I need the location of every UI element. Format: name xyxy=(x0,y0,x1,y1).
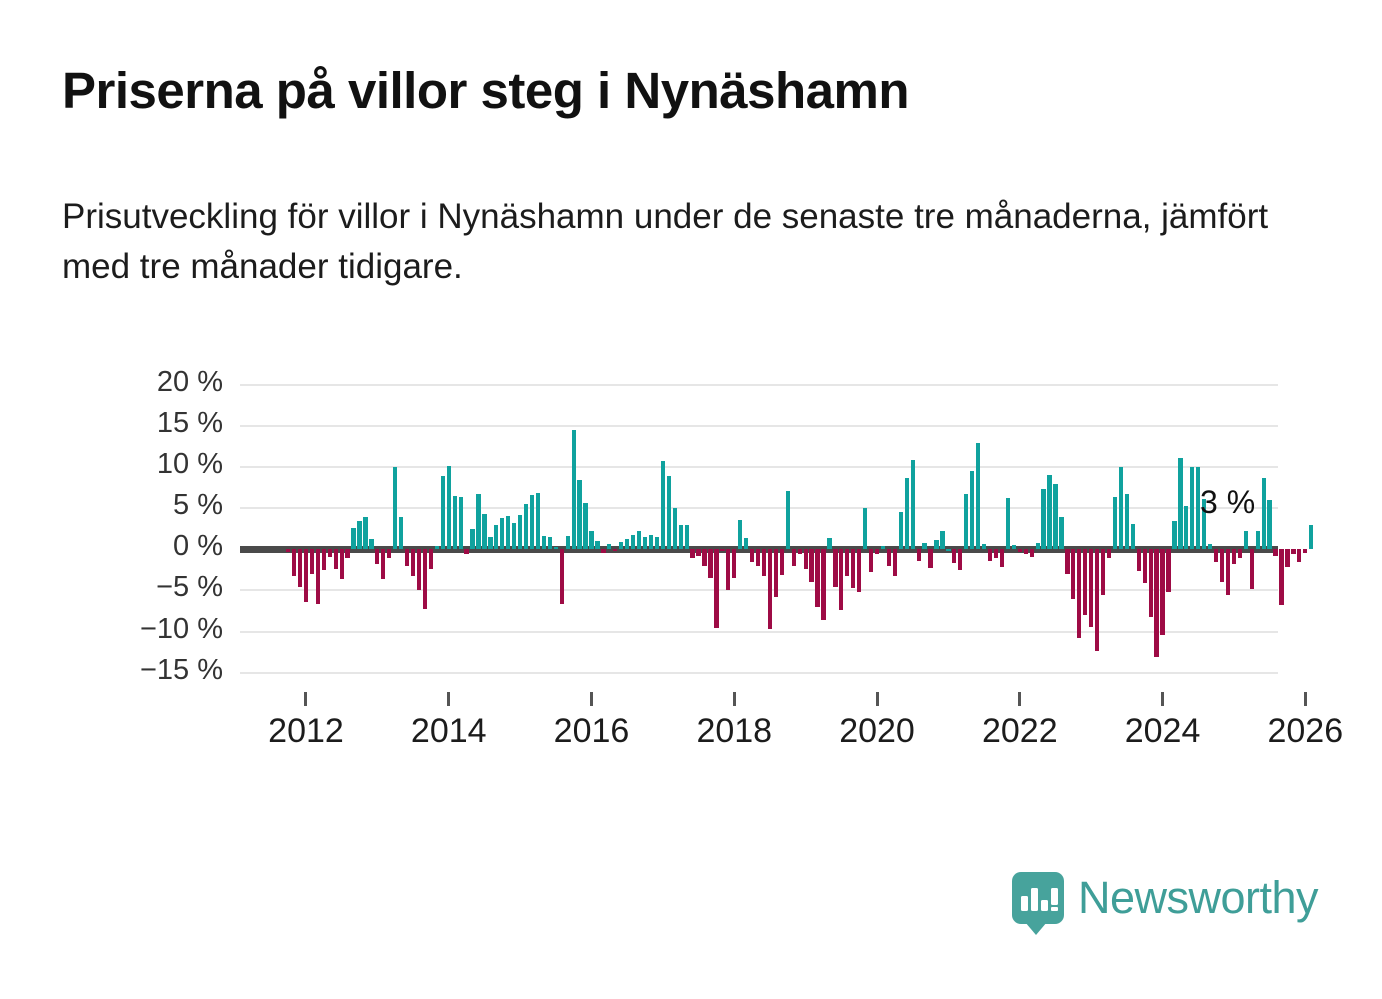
bar-2022-11 xyxy=(1077,549,1081,638)
bar-2012-02 xyxy=(310,549,314,574)
bar-2013-04 xyxy=(393,467,397,549)
bar-2020-10 xyxy=(928,549,932,568)
bar-2024-03 xyxy=(1172,521,1176,550)
bar-2019-02 xyxy=(809,549,813,582)
bar-2019-01 xyxy=(804,549,808,569)
bar-2016-07 xyxy=(625,539,629,550)
bar-2013-12 xyxy=(441,476,445,550)
x-axis-tick-label: 2020 xyxy=(797,712,957,751)
bar-2013-05 xyxy=(399,517,403,550)
bar-2018-12 xyxy=(798,549,802,554)
bar-2022-04 xyxy=(1036,543,1040,550)
bar-2016-03 xyxy=(601,549,605,552)
bar-2022-07 xyxy=(1053,484,1057,550)
x-axis-tick xyxy=(1304,692,1307,706)
bar-2017-11 xyxy=(720,549,724,551)
bar-2017-06 xyxy=(690,549,694,557)
bar-2023-10 xyxy=(1143,549,1147,583)
bar-2023-12 xyxy=(1154,549,1158,657)
logo-bar-3 xyxy=(1041,900,1048,911)
bar-2020-06 xyxy=(905,478,909,549)
y-axis-tick-label: 5 % xyxy=(78,489,223,522)
bar-2025-10 xyxy=(1285,549,1289,567)
bar-2026-01 xyxy=(1303,549,1307,552)
bar-2020-12 xyxy=(940,531,944,549)
bar-2023-11 xyxy=(1149,549,1153,616)
bar-2023-09 xyxy=(1137,549,1141,570)
bar-2025-08 xyxy=(1273,549,1277,556)
bar-2022-09 xyxy=(1065,549,1069,574)
bar-2014-08 xyxy=(488,537,492,549)
bar-2014-10 xyxy=(500,518,504,549)
bar-2018-06 xyxy=(762,549,766,575)
bar-2018-02 xyxy=(738,520,742,550)
x-axis-tick xyxy=(590,692,593,706)
bar-2023-06 xyxy=(1119,467,1123,549)
bar-2015-03 xyxy=(530,495,534,549)
bar-2020-07 xyxy=(911,460,915,549)
bar-2022-02 xyxy=(1024,549,1028,553)
y-axis-tick-label: 10 % xyxy=(78,448,223,481)
bar-2022-12 xyxy=(1083,549,1087,615)
bar-2015-06 xyxy=(548,537,552,549)
bar-2020-05 xyxy=(899,512,903,550)
bar-2020-11 xyxy=(934,540,938,550)
bar-2012-06 xyxy=(334,549,338,569)
bar-2025-12 xyxy=(1297,549,1301,561)
x-axis-tick-label: 2024 xyxy=(1083,712,1243,751)
bar-2022-08 xyxy=(1059,517,1063,550)
price-development-bar-chart: 3 % 20 %15 %10 %5 %0 %−5 %−10 %−15 %2012… xyxy=(0,0,1382,999)
bar-2015-12 xyxy=(583,503,587,550)
bar-2012-12 xyxy=(369,539,373,550)
bar-2021-10 xyxy=(1000,549,1004,566)
bar-2018-10 xyxy=(786,491,790,549)
last-value-annotation: 3 % xyxy=(1200,484,1255,521)
logo-bar-2 xyxy=(1031,888,1038,911)
bar-2016-02 xyxy=(595,541,599,549)
bar-2024-06 xyxy=(1190,467,1194,549)
bar-2014-03 xyxy=(459,497,463,550)
bar-2021-05 xyxy=(970,471,974,549)
bar-2021-11 xyxy=(1006,498,1010,550)
bar-2023-05 xyxy=(1113,497,1117,550)
bar-2018-04 xyxy=(750,549,754,561)
bar-2023-04 xyxy=(1107,549,1111,557)
bar-2013-11 xyxy=(435,546,439,549)
bar-2016-10 xyxy=(643,537,647,549)
bar-2025-03 xyxy=(1244,531,1248,549)
bar-2022-01 xyxy=(1018,549,1022,551)
bar-2013-06 xyxy=(405,549,409,565)
bar-2012-07 xyxy=(340,549,344,579)
bar-2025-02 xyxy=(1238,549,1242,558)
bar-2016-01 xyxy=(589,531,593,549)
bar-2023-02 xyxy=(1095,549,1099,651)
newsworthy-logo: Newsworthy xyxy=(1012,872,1318,924)
logo-exclamation-stem xyxy=(1051,888,1058,905)
bar-2018-05 xyxy=(756,549,760,565)
bar-2023-01 xyxy=(1089,549,1093,626)
bar-2025-11 xyxy=(1291,549,1295,554)
bar-2025-06 xyxy=(1262,478,1266,549)
x-axis-tick xyxy=(1161,692,1164,706)
bar-2019-07 xyxy=(839,549,843,610)
bar-2021-04 xyxy=(964,494,968,550)
bar-2022-05 xyxy=(1041,489,1045,550)
bar-2024-04 xyxy=(1178,458,1182,549)
x-axis-tick-label: 2018 xyxy=(654,712,814,751)
bar-2024-02 xyxy=(1166,549,1170,592)
bar-2025-09 xyxy=(1279,549,1283,605)
bar-2014-11 xyxy=(506,516,510,550)
bar-2012-11 xyxy=(363,517,367,549)
bar-2025-07 xyxy=(1267,500,1271,549)
bar-2015-09 xyxy=(566,536,570,549)
bar-2019-09 xyxy=(851,549,855,588)
bar-2013-09 xyxy=(423,549,427,609)
bar-2022-06 xyxy=(1047,475,1051,550)
bar-2011-10 xyxy=(286,549,290,551)
bar-2015-05 xyxy=(542,536,546,549)
bar-2021-12 xyxy=(1012,545,1016,549)
x-axis-tick xyxy=(1018,692,1021,706)
y-axis-tick-label: 15 % xyxy=(78,407,223,440)
bar-2024-09 xyxy=(1208,544,1212,549)
bar-2013-01 xyxy=(375,549,379,564)
bar-2014-06 xyxy=(476,494,480,549)
bar-2023-03 xyxy=(1101,549,1105,594)
bar-2026-02 xyxy=(1309,525,1313,550)
bar-2017-09 xyxy=(708,549,712,578)
bar-2017-03 xyxy=(673,508,677,550)
bar-2016-06 xyxy=(619,542,623,549)
bar-2016-12 xyxy=(655,537,659,549)
bar-2015-08 xyxy=(560,549,564,603)
x-axis-tick xyxy=(447,692,450,706)
bar-2015-02 xyxy=(524,504,528,549)
logo-exclamation-dot xyxy=(1051,907,1058,911)
bar-2024-12 xyxy=(1226,549,1230,594)
bar-2018-01 xyxy=(732,549,736,578)
bar-2016-09 xyxy=(637,531,641,549)
bar-2024-01 xyxy=(1160,549,1164,634)
bar-2021-03 xyxy=(958,549,962,570)
x-axis-tick-label: 2014 xyxy=(369,712,529,751)
bar-2015-11 xyxy=(577,480,581,550)
bar-2015-07 xyxy=(554,547,558,549)
bar-2012-05 xyxy=(328,549,332,556)
bar-2014-07 xyxy=(482,514,486,549)
bar-2012-04 xyxy=(322,549,326,570)
bar-2012-03 xyxy=(316,549,320,604)
bar-2017-10 xyxy=(714,549,718,628)
x-axis-tick-label: 2012 xyxy=(226,712,386,751)
bar-2019-06 xyxy=(833,549,837,587)
x-axis-tick-label: 2022 xyxy=(940,712,1100,751)
bar-2018-11 xyxy=(792,549,796,565)
bar-2019-10 xyxy=(857,549,861,592)
bar-2012-01 xyxy=(304,549,308,602)
y-axis-tick-label: −5 % xyxy=(78,571,223,604)
bar-2024-11 xyxy=(1220,549,1224,582)
bar-2025-01 xyxy=(1232,549,1236,564)
bar-chart-speech-bubble-icon xyxy=(1012,872,1064,924)
bar-2013-03 xyxy=(387,549,391,557)
bar-2020-01 xyxy=(875,549,879,553)
x-axis-tick xyxy=(304,692,307,706)
y-axis-tick-label: −15 % xyxy=(78,654,223,687)
bar-2017-07 xyxy=(696,549,700,556)
bar-2018-07 xyxy=(768,549,772,629)
bar-2020-02 xyxy=(881,546,885,549)
bar-2025-05 xyxy=(1256,531,1260,549)
bar-2022-10 xyxy=(1071,549,1075,598)
bar-2014-05 xyxy=(470,529,474,550)
bar-2020-08 xyxy=(917,549,921,560)
bar-2014-12 xyxy=(512,523,516,549)
bar-2023-07 xyxy=(1125,494,1129,550)
bar-2019-03 xyxy=(815,549,819,606)
brand-name: Newsworthy xyxy=(1078,872,1318,924)
bar-2011-12 xyxy=(298,549,302,587)
bar-2014-02 xyxy=(453,496,457,549)
bar-2015-04 xyxy=(536,493,540,550)
bar-2017-01 xyxy=(661,461,665,550)
bar-2011-11 xyxy=(292,549,296,575)
bar-2014-09 xyxy=(494,525,498,550)
y-axis-tick-label: 20 % xyxy=(78,366,223,399)
bar-2019-11 xyxy=(863,508,867,549)
bar-2021-06 xyxy=(976,443,980,550)
bar-2023-08 xyxy=(1131,524,1135,549)
bar-2017-04 xyxy=(679,525,683,550)
bar-2020-04 xyxy=(893,549,897,576)
bar-2024-05 xyxy=(1184,506,1188,550)
bar-2016-08 xyxy=(631,535,635,550)
bar-2012-08 xyxy=(345,549,349,558)
bar-2019-04 xyxy=(821,549,825,620)
bar-2016-05 xyxy=(613,549,617,551)
x-axis-tick-label: 2016 xyxy=(512,712,672,751)
bar-2021-02 xyxy=(952,549,956,562)
y-axis-tick-label: 0 % xyxy=(78,530,223,563)
bar-2013-02 xyxy=(381,549,385,579)
bar-2018-03 xyxy=(744,538,748,549)
bar-2016-11 xyxy=(649,535,653,549)
bar-2017-05 xyxy=(685,525,689,550)
bar-2013-10 xyxy=(429,549,433,569)
bar-2021-07 xyxy=(982,544,986,549)
plot-area xyxy=(240,377,1278,689)
bar-2018-08 xyxy=(774,549,778,597)
x-axis-tick xyxy=(733,692,736,706)
bar-2021-08 xyxy=(988,549,992,560)
bar-2013-07 xyxy=(411,549,415,575)
bar-2021-01 xyxy=(946,549,950,551)
bar-2015-01 xyxy=(518,515,522,549)
bar-2019-08 xyxy=(845,549,849,575)
y-axis-tick-label: −10 % xyxy=(78,613,223,646)
bar-2012-10 xyxy=(357,521,361,550)
bar-2019-05 xyxy=(827,538,831,549)
logo-bar-1 xyxy=(1021,896,1028,911)
bar-2017-02 xyxy=(667,476,671,550)
bar-2014-01 xyxy=(447,466,451,549)
bar-2016-04 xyxy=(607,544,611,549)
bar-2021-09 xyxy=(994,549,998,557)
bar-2014-04 xyxy=(464,549,468,554)
bar-2015-10 xyxy=(572,430,576,550)
bar-2013-08 xyxy=(417,549,421,590)
bar-2020-09 xyxy=(922,543,926,550)
bar-2017-08 xyxy=(702,549,706,565)
bar-2019-12 xyxy=(869,549,873,571)
bar-2022-03 xyxy=(1030,549,1034,556)
bar-2012-09 xyxy=(351,528,355,549)
x-axis-tick-label: 2026 xyxy=(1225,712,1382,751)
bar-2018-09 xyxy=(780,549,784,574)
bar-2024-10 xyxy=(1214,549,1218,561)
bar-2025-04 xyxy=(1250,549,1254,588)
x-axis-tick xyxy=(876,692,879,706)
bar-2017-12 xyxy=(726,549,730,590)
bar-2020-03 xyxy=(887,549,891,565)
